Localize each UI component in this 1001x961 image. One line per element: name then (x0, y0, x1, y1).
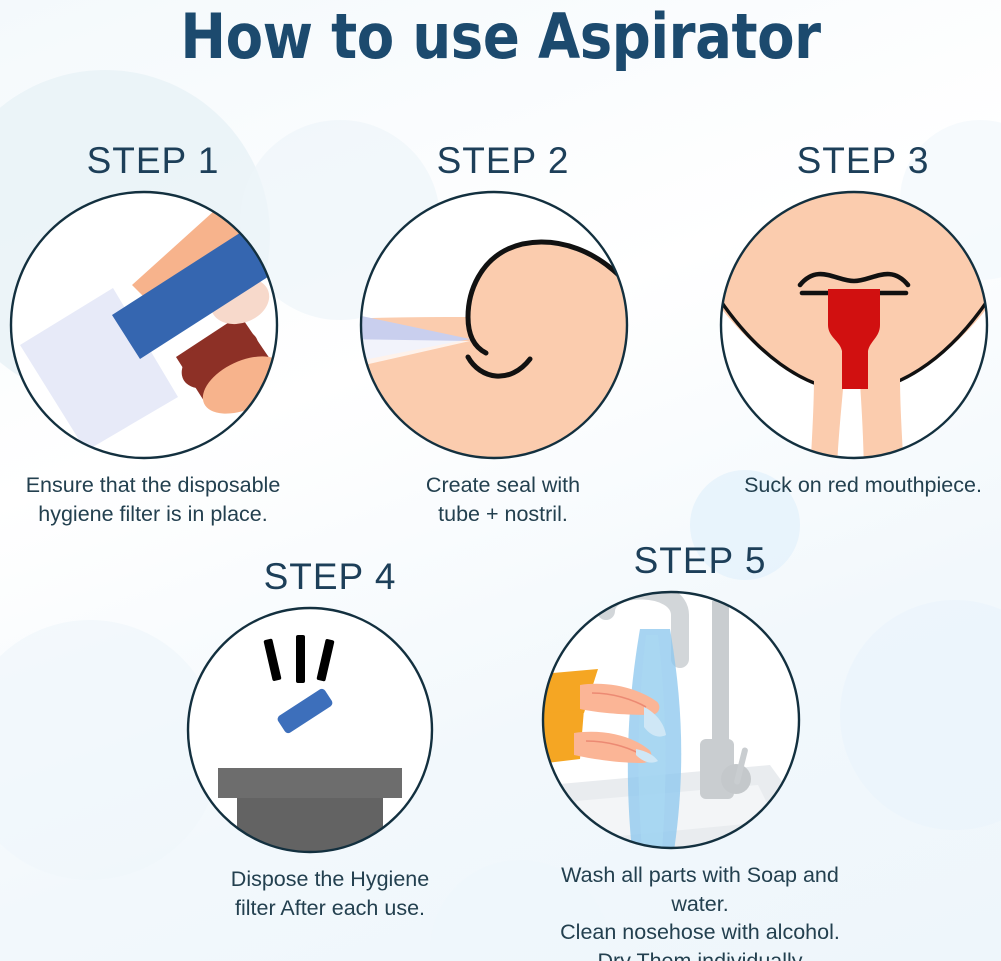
step-card-4: STEP 4 (185, 558, 475, 922)
step-caption-2: Create seal with tube + nostril. (358, 471, 648, 528)
hands-washing-under-faucet-icon (540, 589, 802, 851)
step-illustration-3 (718, 189, 1001, 461)
step-caption-4: Dispose the Hygiene filter After each us… (185, 865, 475, 922)
step-card-1: STEP 1 (8, 142, 298, 528)
step-card-5: STEP 5 (540, 542, 860, 961)
step-illustration-1 (8, 189, 298, 461)
nose-profile-with-tube-icon (358, 189, 630, 461)
step-card-2: STEP 2 C (358, 142, 648, 528)
step-caption-5: Wash all parts with Soap and water. Clea… (540, 861, 860, 961)
background-blob (840, 600, 1001, 830)
page-title: How to use Aspirator (60, 6, 941, 68)
filter-into-trash-bin-icon (185, 605, 435, 855)
step-label-1: STEP 1 (8, 142, 298, 179)
mouth-with-red-mouthpiece-icon (718, 189, 990, 461)
step-caption-1: Ensure that the disposable hygiene filte… (8, 471, 298, 528)
hand-holding-blue-tube-with-filter-icon (8, 189, 280, 461)
step-label-3: STEP 3 (718, 142, 1001, 179)
step-illustration-5 (540, 589, 860, 851)
step-card-3: STEP 3 (718, 142, 1001, 500)
step-illustration-4 (185, 605, 475, 855)
step-label-5: STEP 5 (540, 542, 860, 579)
step-illustration-2 (358, 189, 648, 461)
step-label-2: STEP 2 (358, 142, 648, 179)
step-label-4: STEP 4 (185, 558, 475, 595)
infographic-poster: How to use Aspirator STEP 1 (0, 0, 1001, 961)
step-caption-3: Suck on red mouthpiece. (718, 471, 1001, 500)
